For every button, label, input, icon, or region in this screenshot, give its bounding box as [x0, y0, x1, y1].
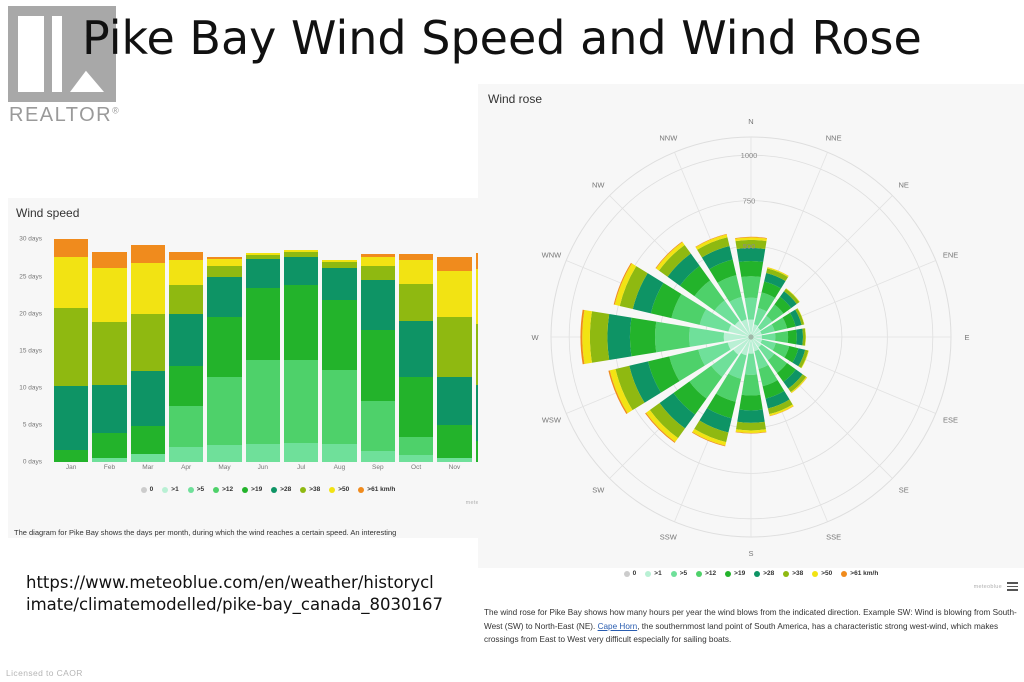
wind-rose-direction-label-wnw: WNW: [542, 250, 562, 259]
wind-speed-segment: [54, 450, 88, 462]
cape-horn-link[interactable]: Cape Horn: [598, 622, 638, 631]
wind-rose-direction-label-ene: ENE: [943, 250, 958, 259]
wind-speed-bars: [54, 232, 510, 462]
wind-speed-segment: [246, 444, 280, 462]
wind-speed-segment: [361, 401, 395, 451]
legend-item-gt50[interactable]: >50: [812, 570, 832, 577]
x-axis-tick-label: Jun: [246, 464, 280, 478]
legend-item-gt50[interactable]: >50: [329, 486, 349, 493]
legend-swatch-icon: [213, 487, 219, 493]
legend-swatch-icon: [300, 487, 306, 493]
x-axis-tick-label: Jan: [54, 464, 88, 478]
wind-speed-segment: [361, 257, 395, 267]
wind-speed-bar-sep[interactable]: [361, 232, 395, 462]
licensed-to-label: Licensed to CAOR: [6, 668, 83, 678]
wind-speed-bar-feb[interactable]: [92, 232, 126, 462]
wind-speed-x-axis: JanFebMarAprMayJunJulAugSepOctNovDec: [54, 464, 510, 478]
wind-speed-segment: [322, 300, 356, 370]
y-axis-tick-label: 10 days: [19, 384, 42, 391]
legend-item-label: >1: [171, 486, 178, 493]
wind-rose-direction-label-s: S: [748, 549, 753, 558]
legend-swatch-icon: [696, 571, 702, 577]
legend-swatch-icon: [812, 571, 818, 577]
wind-speed-segment: [322, 444, 356, 462]
wind-speed-bar-aug[interactable]: [322, 232, 356, 462]
x-axis-tick-label: Sep: [361, 464, 395, 478]
x-axis-tick-label: Feb: [92, 464, 126, 478]
wind-speed-segment: [284, 257, 318, 285]
wind-rose-chart-title: Wind rose: [488, 92, 542, 106]
legend-swatch-icon: [624, 571, 630, 577]
wind-rose-segment: [737, 410, 764, 423]
wind-speed-description: The diagram for Pike Bay shows the days …: [14, 528, 514, 537]
legend-swatch-icon: [188, 487, 194, 493]
wind-speed-bar-nov[interactable]: [437, 232, 471, 462]
legend-item-gt12[interactable]: >12: [696, 570, 716, 577]
wind-speed-segment: [92, 385, 126, 433]
wind-speed-segment: [92, 322, 126, 385]
wind-speed-bar-jun[interactable]: [246, 232, 280, 462]
wind-speed-segment: [437, 425, 471, 458]
legend-item-gt1[interactable]: >1: [162, 486, 178, 493]
wind-speed-segment: [131, 454, 165, 462]
wind-speed-segment: [207, 277, 241, 318]
legend-item-gt28[interactable]: >28: [754, 570, 774, 577]
wind-rose-segment: [655, 322, 690, 353]
wind-speed-segment: [322, 268, 356, 301]
wind-speed-bar-oct[interactable]: [399, 232, 433, 462]
wind-speed-segment: [169, 260, 203, 285]
wind-rose-svg: 5007501000NNNENEENEEESESESSESSSWSWWSWWWN…: [498, 110, 1004, 560]
wind-rose-radial-tick-label: 500: [743, 242, 756, 251]
wind-speed-segment: [284, 443, 318, 462]
legend-swatch-icon: [141, 487, 147, 493]
legend-item-gt61[interactable]: >61 km/h: [358, 486, 395, 493]
legend-item-gt19[interactable]: >19: [242, 486, 262, 493]
wind-rose-plot-area: 5007501000NNNENEENEEESESESSESSSWSWWSWWWN…: [498, 110, 1004, 560]
wind-rose-direction-label-nnw: NNW: [659, 133, 678, 142]
wind-rose-segment: [742, 374, 761, 395]
wind-rose-credit: meteoblue: [974, 582, 1018, 591]
wind-rose-segment: [745, 354, 757, 375]
wind-rose-segment: [736, 422, 766, 431]
wind-speed-y-axis: 0 days5 days10 days15 days20 days25 days…: [0, 198, 46, 438]
wind-speed-segment: [246, 259, 280, 288]
legend-item-label: >61 km/h: [367, 486, 395, 493]
legend-item-gt61[interactable]: >61 km/h: [841, 570, 878, 577]
legend-item-label: >38: [792, 570, 803, 577]
wind-rose-direction-label-ese: ESE: [943, 416, 958, 425]
wind-rose-direction-label-e: E: [964, 333, 969, 342]
wind-speed-segment: [169, 314, 203, 365]
wind-speed-panel: Wind speed 0>1>5>12>19>28>38>50>61 km/h …: [8, 198, 518, 538]
wind-rose-direction-label-nw: NW: [592, 180, 605, 189]
legend-item-gt19[interactable]: >19: [725, 570, 745, 577]
legend-item-label: >61 km/h: [850, 570, 878, 577]
legend-swatch-icon: [329, 487, 335, 493]
legend-swatch-icon: [671, 571, 677, 577]
legend-item-label: >5: [680, 570, 687, 577]
legend-item-gt5[interactable]: >5: [188, 486, 204, 493]
wind-rose-direction-label-sw: SW: [592, 486, 605, 495]
wind-rose-segment: [739, 261, 763, 277]
wind-speed-segment: [54, 257, 88, 308]
wind-speed-segment: [207, 317, 241, 376]
wind-rose-description: The wind rose for Pike Bay shows how man…: [484, 606, 1018, 647]
wind-speed-segment: [207, 266, 241, 276]
legend-item-label: >12: [705, 570, 716, 577]
legend-swatch-icon: [841, 571, 847, 577]
wind-rose-segment: [762, 333, 776, 341]
legend-item-gt12[interactable]: >12: [213, 486, 233, 493]
legend-item-label: >19: [734, 570, 745, 577]
y-axis-tick-label: 15 days: [19, 347, 42, 354]
wind-rose-segment: [607, 314, 631, 360]
wind-speed-segment: [169, 252, 203, 259]
wind-rose-direction-label-sse: SSE: [826, 533, 841, 542]
wind-rose-segment: [630, 318, 656, 357]
wind-speed-segment: [169, 285, 203, 315]
source-url: https://www.meteoblue.com/en/weather/his…: [26, 572, 456, 616]
legend-item-label: >38: [309, 486, 320, 493]
wind-rose-segment: [788, 330, 797, 345]
source-url-line-1: https://www.meteoblue.com/en/weather/his…: [26, 573, 434, 592]
x-axis-tick-label: Mar: [131, 464, 165, 478]
wind-speed-segment: [131, 314, 165, 370]
wind-rose-direction-label-se: SE: [899, 486, 909, 495]
legend-item-label: >5: [197, 486, 204, 493]
x-axis-tick-label: Aug: [322, 464, 356, 478]
legend-item-gt28[interactable]: >28: [271, 486, 291, 493]
y-axis-tick-label: 30 days: [19, 236, 42, 243]
legend-swatch-icon: [783, 571, 789, 577]
legend-row: 0>1>5>12>19>28>38>50>61 km/h: [536, 570, 966, 577]
wind-speed-plot-area: [54, 232, 510, 462]
wind-speed-segment: [207, 377, 241, 445]
realtor-wordmark: REALTOR®: [9, 104, 120, 127]
wind-rose-direction-label-nne: NNE: [826, 133, 842, 142]
legend-item-gt5[interactable]: >5: [671, 570, 687, 577]
wind-rose-segment: [745, 298, 758, 320]
legend-swatch-icon: [242, 487, 248, 493]
y-axis-tick-label: 25 days: [19, 273, 42, 280]
wind-speed-segment: [284, 360, 318, 443]
legend-item-label: >50: [338, 486, 349, 493]
x-axis-tick-label: Jul: [284, 464, 318, 478]
wind-speed-segment: [399, 455, 433, 462]
wind-speed-segment: [437, 257, 471, 272]
wind-speed-segment: [284, 285, 318, 360]
x-axis-tick-label: Nov: [437, 464, 471, 478]
wind-rose-legend: 0>1>5>12>19>28>38>50>61 km/h: [536, 570, 966, 582]
wind-speed-segment: [246, 360, 280, 444]
y-axis-tick-label: 20 days: [19, 310, 42, 317]
legend-swatch-icon: [754, 571, 760, 577]
legend-item-0[interactable]: 0: [141, 486, 154, 493]
legend-item-label: >12: [222, 486, 233, 493]
wind-speed-segment: [169, 447, 203, 462]
wind-speed-segment: [131, 426, 165, 454]
wind-rose-center-dot: [748, 334, 753, 339]
source-url-line-2: imate/climatemodelled/pike-bay_canada_80…: [26, 595, 443, 614]
wind-speed-bar-apr[interactable]: [169, 232, 203, 462]
wind-speed-segment: [54, 308, 88, 386]
legend-item-label: >28: [280, 486, 291, 493]
wind-speed-segment: [54, 386, 88, 450]
legend-row: 0>1>5>12>19>28>38>50>61 km/h: [48, 486, 488, 493]
wind-speed-segment: [361, 330, 395, 401]
wind-speed-bar-jul[interactable]: [284, 232, 318, 462]
wind-speed-bar-jan[interactable]: [54, 232, 88, 462]
wind-speed-segment: [399, 284, 433, 321]
meteoblue-watermark: meteoblue: [974, 584, 1002, 590]
wind-speed-segment: [246, 288, 280, 361]
wind-speed-segment: [131, 371, 165, 426]
x-axis-tick-label: Oct: [399, 464, 433, 478]
wind-speed-segment: [207, 445, 241, 462]
wind-speed-bar-may[interactable]: [207, 232, 241, 462]
wind-speed-legend: 0>1>5>12>19>28>38>50>61 km/h: [48, 486, 488, 498]
wind-rose-segment: [689, 327, 724, 347]
wind-rose-direction-label-n: N: [748, 117, 753, 126]
wind-speed-segment: [54, 239, 88, 257]
wind-rose-segment: [796, 329, 803, 346]
wind-speed-segment: [131, 245, 165, 264]
legend-item-label: 0: [633, 570, 637, 577]
legend-item-label: >19: [251, 486, 262, 493]
page-title: Pike Bay Wind Speed and Wind Rose: [82, 8, 962, 68]
legend-swatch-icon: [645, 571, 651, 577]
legend-swatch-icon: [358, 487, 364, 493]
legend-item-label: >50: [821, 570, 832, 577]
y-axis-tick-label: 0 days: [23, 459, 42, 466]
legend-item-label: >28: [763, 570, 774, 577]
y-axis-tick-label: 5 days: [23, 421, 42, 428]
wind-speed-segment: [92, 433, 126, 457]
wind-speed-segment: [399, 377, 433, 437]
wind-rose-segment: [775, 331, 788, 343]
registered-mark: ®: [112, 105, 120, 115]
wind-rose-panel: Wind rose 5007501000NNNENEENEEESESESSESS…: [478, 84, 1024, 568]
wind-speed-segment: [399, 437, 433, 456]
wind-speed-segment: [92, 252, 126, 268]
wind-speed-segment: [437, 271, 471, 316]
wind-speed-segment: [361, 280, 395, 330]
legend-item-gt38[interactable]: >38: [300, 486, 320, 493]
wind-speed-bar-mar[interactable]: [131, 232, 165, 462]
wind-speed-segment: [399, 260, 433, 284]
wind-rose-radial-tick-label: 750: [743, 197, 756, 206]
wind-speed-segment: [92, 268, 126, 322]
wind-speed-segment: [322, 370, 356, 444]
legend-swatch-icon: [271, 487, 277, 493]
wind-speed-segment: [437, 458, 471, 462]
wind-rose-segment: [590, 311, 609, 363]
legend-swatch-icon: [162, 487, 168, 493]
legend-item-label: >1: [654, 570, 661, 577]
wind-speed-segment: [437, 317, 471, 378]
legend-item-gt38[interactable]: >38: [783, 570, 803, 577]
wind-speed-segment: [169, 406, 203, 447]
wind-rose-direction-label-ne: NE: [899, 180, 909, 189]
legend-item-0[interactable]: 0: [624, 570, 637, 577]
wind-rose-segment: [741, 276, 760, 298]
wind-speed-segment: [361, 451, 395, 462]
wind-rose-direction-label-wsw: WSW: [542, 416, 562, 425]
wind-speed-segment: [207, 259, 241, 266]
wind-rose-radial-tick-label: 1000: [741, 151, 758, 160]
wind-speed-segment: [131, 263, 165, 314]
x-axis-tick-label: May: [207, 464, 241, 478]
hamburger-menu-icon[interactable]: [1007, 582, 1018, 591]
wind-rose-direction-label-w: W: [531, 333, 539, 342]
wind-speed-segment: [437, 377, 471, 424]
legend-item-label: 0: [150, 486, 154, 493]
x-axis-tick-label: Apr: [169, 464, 203, 478]
wind-speed-segment: [169, 366, 203, 407]
wind-rose-direction-label-ssw: SSW: [660, 533, 678, 542]
wind-speed-segment: [361, 266, 395, 279]
legend-swatch-icon: [725, 571, 731, 577]
legend-item-gt1[interactable]: >1: [645, 570, 661, 577]
wind-rose-segment: [739, 395, 762, 411]
wind-speed-segment: [92, 458, 126, 462]
realtor-wordmark-text: REALTOR: [9, 104, 112, 126]
wind-speed-segment: [399, 321, 433, 377]
